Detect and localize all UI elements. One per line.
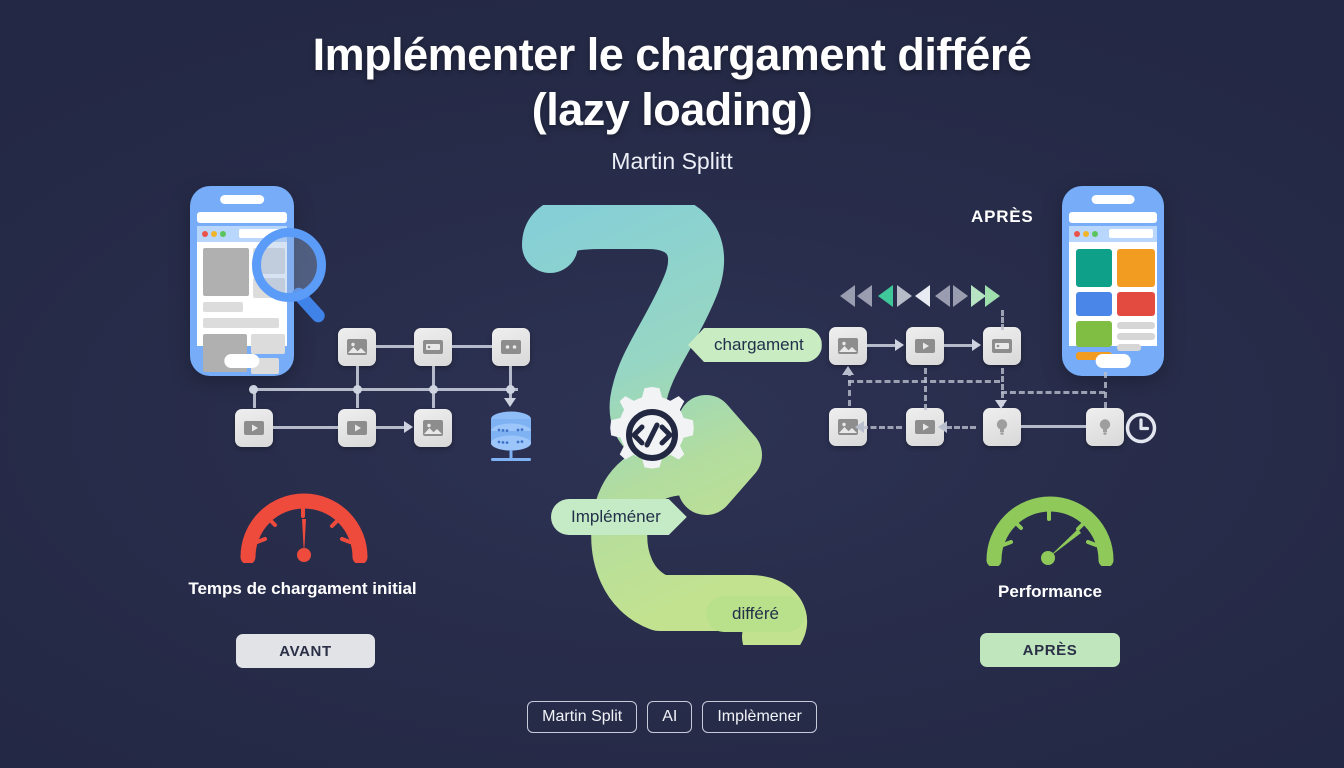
edge [432,388,435,408]
browser-dot-yellow [211,231,217,237]
node-bulb[interactable] [983,408,1021,446]
browser-dot-green [220,231,226,237]
clock-icon [1125,412,1157,444]
edge [253,388,256,408]
play-icon [913,415,937,439]
badge-differe[interactable]: différé [706,596,805,632]
footer-tag-list: Martin Split AI Implèmener [0,701,1344,733]
edge-dashed [1104,372,1107,408]
after-badge-label: APRÈS [1023,642,1078,659]
after-gauge [986,488,1114,564]
arrow-right-icon [897,285,912,307]
skeleton-block [253,248,285,274]
phone-home-button [1096,354,1131,368]
badge-implementer[interactable]: Impléméner [551,499,687,535]
gauge-red-icon [240,485,368,563]
edge [1021,425,1086,428]
browser-dot-yellow [1083,231,1089,237]
content-tile [1117,249,1155,287]
skeleton-block [203,248,249,296]
arrowhead [995,400,1007,409]
after-metric-label: Performance [930,581,1170,604]
badge-chargement[interactable]: chargament [688,328,822,362]
arrow-right-icon [971,285,986,307]
footer-tag-martin-split[interactable]: Martin Split [527,701,637,733]
edge [944,344,974,347]
phone-browser-chrome [197,226,287,242]
before-phone-mockup [190,186,294,376]
edge-dashed [862,426,902,429]
browser-dot-red [1074,231,1080,237]
edge [509,366,512,388]
phone-screen-content [1069,242,1157,346]
play-icon [913,334,937,358]
badge-label: chargament [714,335,804,355]
magnifier-handle [290,285,328,325]
arrow-right-icon [953,285,968,307]
play-icon [345,416,369,440]
edge [452,345,492,348]
gear-code-icon [600,383,704,487]
edge [273,426,338,429]
node-play[interactable] [338,409,376,447]
arrowhead [895,339,904,351]
phone-url-bar [1069,212,1157,223]
edge-dashed [1001,310,1004,330]
author-name: Martin Splitt [0,148,1344,175]
edge-dashed [1001,391,1105,394]
arrowhead [404,421,413,433]
edge [253,388,518,391]
page-title-line2: (lazy loading) [0,83,1344,138]
arrowhead [855,421,864,433]
arrow-right-icon [985,285,1000,307]
content-line [1117,344,1141,351]
node-card[interactable] [983,327,1021,365]
card-icon [421,335,445,359]
browser-dot-red [202,231,208,237]
arrowhead [972,339,981,351]
phone-url-bar [197,212,287,223]
browser-tab [239,229,283,238]
skeleton-block [253,278,285,298]
arrow-left-icon [840,285,855,307]
before-gauge [240,485,368,561]
after-badge-button[interactable]: APRÈS [980,633,1120,667]
content-tile [1076,292,1112,316]
arrow-left-icon [935,285,950,307]
phone-speaker [1092,195,1135,204]
node-image[interactable] [338,328,376,366]
badge-label: différé [732,604,779,624]
skeleton-block [251,334,285,354]
edge-dashed [946,426,976,429]
phone-home-button [224,354,259,368]
node-play[interactable] [235,409,273,447]
edge [867,344,897,347]
page-title-line1: Implémenter le chargament différé [0,28,1344,83]
footer-tag-implemener[interactable]: Implèmener [702,701,816,733]
phone-screen-skeleton [197,242,287,346]
gauge-green-icon [986,488,1114,566]
slide-canvas: Implémenter le chargament différé (lazy … [0,0,1344,768]
node-image[interactable] [829,327,867,365]
edge [432,366,435,388]
content-tile [1117,292,1155,316]
edge-dashed [848,370,851,406]
card-icon [990,334,1014,358]
arrow-left-icon [915,285,930,307]
image-icon [345,335,369,359]
node-play[interactable] [906,327,944,365]
edge-dashed [924,368,927,410]
edge [376,345,414,348]
play-icon [242,416,266,440]
phone-browser-chrome [1069,226,1157,242]
node-bulb[interactable] [1086,408,1124,446]
phone-speaker [220,195,264,204]
edge [376,426,406,429]
browser-tab [1109,229,1153,238]
after-phone-mockup [1062,186,1164,376]
arrowhead [938,421,947,433]
footer-tag-ai[interactable]: AI [647,701,692,733]
content-tile [1076,321,1112,347]
content-line [1117,322,1155,329]
skeleton-line [203,318,279,328]
edge [356,366,359,388]
edge [356,388,359,408]
content-line [1117,333,1155,340]
skeleton-line [203,302,243,312]
title-block: Implémenter le chargament différé (lazy … [0,28,1344,175]
badge-label: Impléméner [571,507,661,527]
arrow-left-icon [857,285,872,307]
image-icon [421,416,445,440]
arrow-left-icon [878,285,893,307]
node-image[interactable] [414,409,452,447]
arrowhead [842,366,854,375]
bulb-icon [990,415,1014,439]
before-badge-label: AVANT [279,643,331,660]
before-badge-button[interactable]: AVANT [236,634,375,668]
image-icon [836,334,860,358]
before-metric-label: Temps de chargament initial [175,578,430,601]
after-caption: APRÈS [971,207,1034,227]
node-card[interactable] [414,328,452,366]
browser-dot-green [1092,231,1098,237]
content-tile [1076,249,1112,287]
bulb-icon [1093,415,1117,439]
